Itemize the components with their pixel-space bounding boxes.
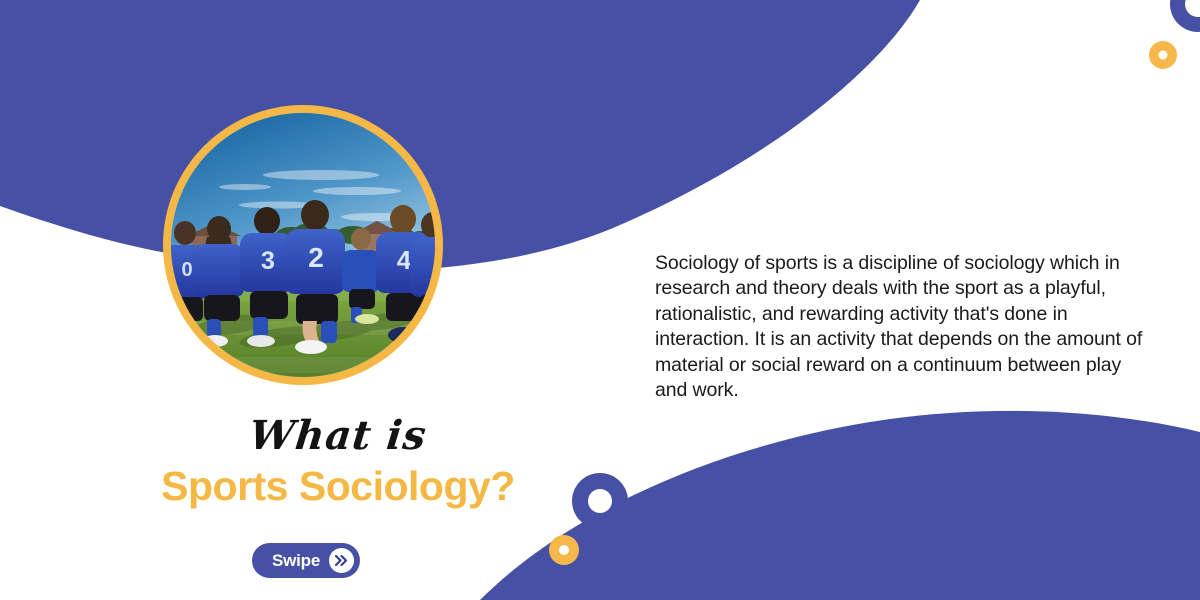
blue-curved-blob-top xyxy=(0,0,920,271)
photo-circle-frame: 0 xyxy=(163,105,443,385)
body-paragraph: Sociology of sports is a discipline of s… xyxy=(655,251,1151,404)
svg-text:4: 4 xyxy=(397,245,412,275)
svg-text:0: 0 xyxy=(181,259,192,281)
slide-canvas: 0 xyxy=(0,0,1200,600)
gold-ring-top-right xyxy=(1149,41,1177,69)
headline-main-line: Sports Sociology? xyxy=(128,460,548,512)
blue-ring-top-right xyxy=(1170,0,1200,32)
svg-text:3: 3 xyxy=(261,247,275,275)
double-chevron-right-icon xyxy=(329,548,354,573)
gold-ring-bottom-left xyxy=(549,535,579,565)
svg-text:2: 2 xyxy=(308,242,324,273)
headline-block: What is Sports Sociology? xyxy=(128,414,548,512)
swipe-button[interactable]: Swipe xyxy=(252,543,360,578)
headline-script-line: What is xyxy=(126,414,551,458)
team-photo: 0 xyxy=(171,113,435,377)
swipe-button-label: Swipe xyxy=(272,551,320,571)
blue-ring-bottom-left xyxy=(572,473,628,529)
